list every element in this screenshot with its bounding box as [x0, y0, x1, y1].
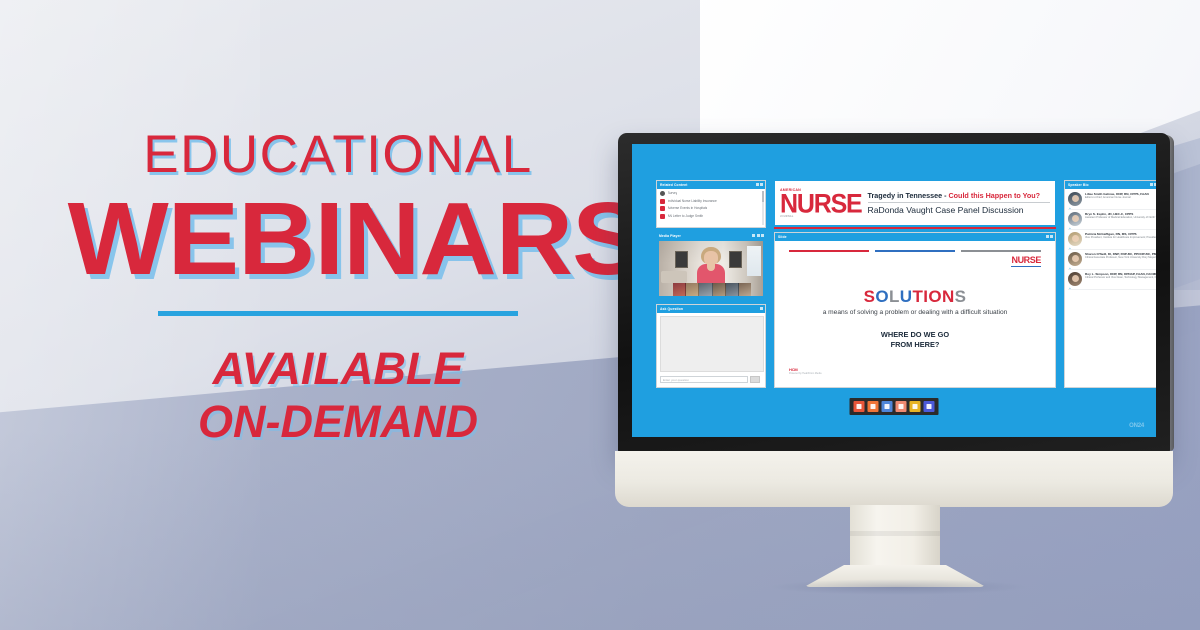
- sofa-decor: [661, 271, 687, 283]
- question-input-row: Enter your question: [660, 376, 760, 383]
- slide-question-line-2: FROM HERE?: [777, 340, 1053, 350]
- rule-red: [789, 250, 869, 252]
- monitor-shadow: [768, 579, 1028, 595]
- title-divider: [868, 202, 1050, 203]
- pdf-icon: [660, 199, 665, 204]
- avatar: [1068, 272, 1082, 286]
- wall-art-decor: [675, 251, 688, 268]
- help-button[interactable]: [910, 401, 921, 412]
- participant-thumbnail[interactable]: [739, 283, 751, 296]
- list-item[interactable]: Individual Nurse Liability Insurance: [660, 199, 762, 204]
- slide-top-rules: [789, 250, 1041, 252]
- slide-panel[interactable]: Slide NURSE SOLUTIONS a means of solving…: [774, 232, 1056, 388]
- speaker-bio-text: Lillee Smith Gelinas, DNP, RN, CPPS, FAA…: [1085, 192, 1156, 206]
- slide-panel-header: Slide: [775, 233, 1055, 241]
- webinar-console: Related Content Survey Individual Nurse …: [632, 144, 1156, 437]
- speaker-bio-text: Roy L. Simpson, DNP, RN, DPNAP, FAAN, FA…: [1085, 272, 1156, 286]
- questions-button[interactable]: [924, 401, 935, 412]
- send-question-button[interactable]: [750, 376, 760, 383]
- speaker-bio-panel-title: Speaker Bio: [1068, 181, 1089, 189]
- promo-subline-1: AVAILABLE: [78, 342, 598, 395]
- slide-definition: a means of solving a problem or dealing …: [777, 309, 1053, 317]
- avatar: [1068, 232, 1082, 246]
- heading-letter: O: [875, 287, 889, 306]
- list-item[interactable]: Lillee Smith Gelinas, DNP, RN, CPPS, FAA…: [1068, 192, 1156, 210]
- participant-thumbnail[interactable]: [686, 283, 699, 296]
- monitor-chin: [615, 451, 1173, 507]
- participant-thumbnail[interactable]: [673, 283, 686, 296]
- promo-subline-2: ON-DEMAND: [78, 395, 598, 448]
- media-player-panel-header: Media Player: [656, 232, 766, 240]
- media-player-button[interactable]: [854, 401, 865, 412]
- heading-letter: N: [942, 287, 955, 306]
- panel-controls-icon[interactable]: [756, 183, 764, 186]
- related-content-panel-title: Related Content: [660, 181, 688, 189]
- related-content-label: Adverse Events in Hospitals: [668, 206, 708, 211]
- promo-banner: EDUCATIONAL WEBINARS AVAILABLE ON-DEMAND…: [0, 0, 1200, 630]
- monitor-stand-neck: [850, 505, 940, 567]
- monitor-screen: Related Content Survey Individual Nurse …: [632, 144, 1156, 437]
- related-content-label: Survey: [668, 191, 678, 196]
- heading-letter: U: [900, 287, 913, 306]
- media-player-panel[interactable]: Media Player: [656, 232, 766, 300]
- related-content-scrollbar[interactable]: [762, 191, 764, 225]
- desktop-monitor: Related Content Survey Individual Nurse …: [618, 133, 1170, 453]
- speaker-bio-text: Patricia McGaffigan, RN, MS, CPPS Vice P…: [1085, 232, 1156, 246]
- avatar: [1068, 212, 1082, 226]
- panel-controls-icon[interactable]: [1046, 235, 1054, 238]
- rule-gray: [961, 250, 1041, 252]
- expand-bio-icon[interactable]: »: [1069, 206, 1071, 210]
- promo-kicker: EDUCATIONAL: [78, 128, 598, 181]
- related-content-panel-header: Related Content: [657, 181, 765, 189]
- ask-question-panel[interactable]: Ask Question Enter your question: [656, 304, 766, 388]
- pdf-icon: [660, 206, 665, 211]
- speaker-bio-button[interactable]: [896, 401, 907, 412]
- speaker-bio-text: Sharon O'Neill, DI, DNP, FNP-BC, PPCNP-B…: [1085, 252, 1156, 266]
- pdf-icon: [660, 214, 665, 219]
- slide-panel-title: Slide: [778, 233, 787, 241]
- heading-letter: S: [955, 287, 967, 306]
- speaker-bio-list: Lillee Smith Gelinas, DNP, RN, CPPS, FAA…: [1065, 189, 1156, 290]
- related-content-label: AN Letter to Judge Smith: [668, 214, 704, 219]
- question-thread: [660, 316, 764, 372]
- webinar-title-line-1: Tragedy in Tennessee - Could this Happen…: [868, 191, 1050, 201]
- promo-divider: [158, 311, 518, 316]
- list-item[interactable]: Sharon O'Neill, DI, DNP, FNP-BC, PPCNP-B…: [1068, 252, 1156, 270]
- speaker-role: Vice President, Institute for Healthcare…: [1085, 236, 1156, 239]
- webinar-title-text: Tragedy in Tennessee - Could this Happen…: [868, 191, 1050, 216]
- expand-bio-icon[interactable]: »: [1069, 266, 1071, 270]
- question-input[interactable]: Enter your question: [660, 376, 748, 383]
- heading-letter: L: [889, 287, 900, 306]
- panel-controls-icon[interactable]: [1150, 183, 1157, 186]
- slide-canvas: NURSE SOLUTIONS a means of solving a pro…: [777, 244, 1053, 385]
- slide-question: WHERE DO WE GO FROM HERE?: [777, 330, 1053, 350]
- slide-footer: HCM Powered by HealthCom Media: [789, 367, 821, 375]
- panel-controls-icon[interactable]: [752, 234, 764, 237]
- speaker-bio-panel-header: Speaker Bio: [1065, 181, 1156, 189]
- list-item[interactable]: Bryn S. Esplin, JD, HEC-C, CPPS Assistan…: [1068, 212, 1156, 230]
- ask-question-panel-header: Ask Question: [657, 305, 765, 313]
- panel-controls-icon[interactable]: [760, 307, 763, 310]
- speaker-role: Clinical Professor and Vice Dean, Techno…: [1085, 276, 1156, 279]
- promo-headline-block: EDUCATIONAL WEBINARS AVAILABLE ON-DEMAND: [78, 128, 598, 448]
- participant-thumbnail[interactable]: [699, 283, 712, 296]
- promo-headline: WEBINARS: [68, 189, 609, 289]
- heading-letter: T: [912, 287, 923, 306]
- title-banner-underline: [774, 227, 1056, 229]
- expand-bio-icon[interactable]: »: [1069, 246, 1071, 250]
- slide-question-line-1: WHERE DO WE GO: [777, 330, 1053, 340]
- resources-button[interactable]: [882, 401, 893, 412]
- webinar-subtitle: RaDonda Vaught Case Panel Discussion: [868, 205, 1050, 216]
- slide-footer-caption: Powered by HealthCom Media: [789, 372, 821, 375]
- list-item[interactable]: Patricia McGaffigan, RN, MS, CPPS Vice P…: [1068, 232, 1156, 250]
- list-item[interactable]: AN Letter to Judge Smith: [660, 214, 762, 219]
- heading-letter: S: [864, 287, 876, 306]
- list-item[interactable]: Survey: [660, 191, 762, 196]
- related-content-list: Survey Individual Nurse Liability Insura…: [657, 189, 765, 223]
- window-decor: [747, 246, 761, 276]
- media-player-panel-title: Media Player: [659, 232, 681, 240]
- list-item[interactable]: Adverse Events in Hospitals: [660, 206, 762, 211]
- avatar: [1068, 192, 1082, 206]
- speaker-role: Assistant Professor of Medical Education…: [1085, 216, 1156, 219]
- rule-blue: [875, 250, 955, 252]
- globe-icon: [660, 191, 665, 196]
- speaker-role: Clinical Associate Professor, New York U…: [1085, 256, 1156, 259]
- brand-wordmark: NURSE: [780, 191, 862, 216]
- speaker-bio-panel[interactable]: Speaker Bio Lillee Smith Gelinas, DNP, R…: [1064, 180, 1156, 388]
- webinar-title-banner: AMERICAN NURSE JOURNAL Tragedy in Tennes…: [774, 180, 1056, 226]
- slide-watermark-logo: NURSE: [1011, 256, 1041, 265]
- speaker-role: Editor-in-Chief, American Nurse Journal: [1085, 196, 1156, 199]
- presenter-video[interactable]: [659, 241, 763, 296]
- console-toolbar: [850, 398, 939, 415]
- participant-thumbnail[interactable]: [713, 283, 726, 296]
- on24-logo: ON24: [1129, 423, 1144, 429]
- american-nurse-logo: AMERICAN NURSE JOURNAL: [780, 188, 862, 218]
- webinar-title-black: Tragedy in Tennessee -: [868, 191, 949, 200]
- webinar-title-red: Could this Happen to You?: [948, 191, 1040, 200]
- related-content-panel[interactable]: Related Content Survey Individual Nurse …: [656, 180, 766, 228]
- speaker-bio-text: Bryn S. Esplin, JD, HEC-C, CPPS Assistan…: [1085, 212, 1156, 226]
- heading-letter: O: [928, 287, 942, 306]
- expand-bio-icon[interactable]: »: [1069, 286, 1071, 290]
- ask-question-panel-title: Ask Question: [660, 305, 683, 313]
- slides-button[interactable]: [868, 401, 879, 412]
- avatar: [1068, 252, 1082, 266]
- expand-bio-icon[interactable]: »: [1069, 226, 1071, 230]
- wall-art-decor: [729, 251, 742, 268]
- related-content-label: Individual Nurse Liability Insurance: [668, 199, 717, 204]
- slide-heading: SOLUTIONS: [777, 288, 1053, 305]
- list-item[interactable]: Roy L. Simpson, DNP, RN, DPNAP, FAAN, FA…: [1068, 272, 1156, 290]
- promo-subline: AVAILABLE ON-DEMAND: [78, 342, 598, 448]
- participant-thumbnail[interactable]: [726, 283, 739, 296]
- participant-thumbnail-strip[interactable]: [673, 283, 751, 296]
